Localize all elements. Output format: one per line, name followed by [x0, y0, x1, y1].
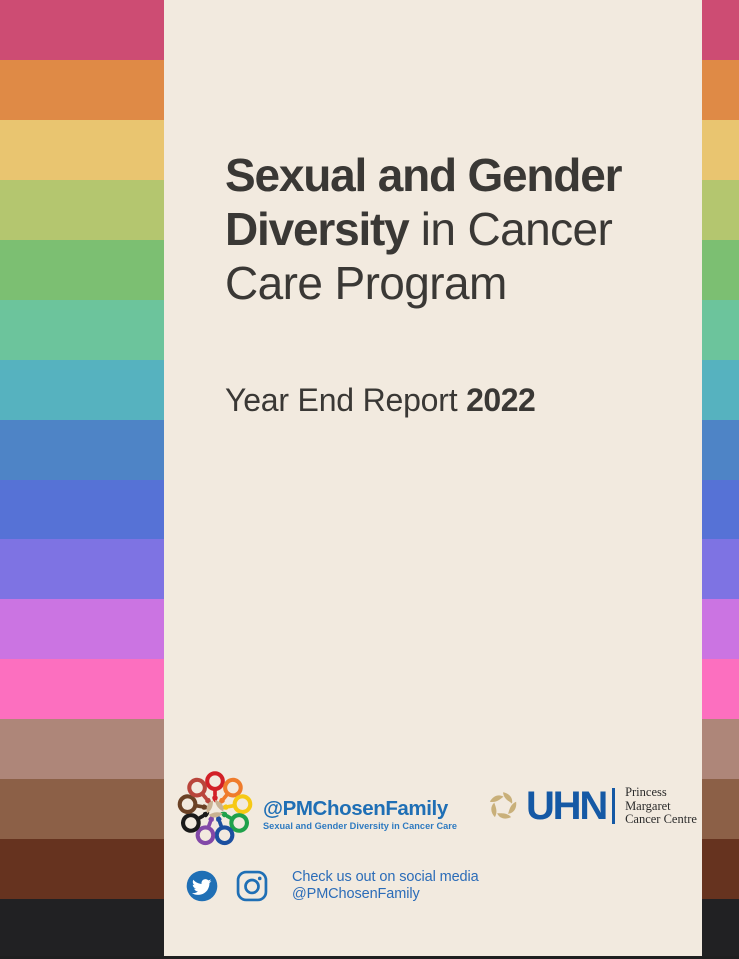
- social-media-row: Check us out on social media @PMChosenFa…: [184, 868, 479, 904]
- instagram-icon[interactable]: [234, 868, 270, 904]
- color-stripe-green: [0, 240, 164, 300]
- report-subtitle: Year End Report 2022: [225, 380, 535, 420]
- title-line-3: Care Program: [225, 257, 507, 309]
- footer-logo-row: @PMChosenFamily Sexual and Gender Divers…: [174, 768, 704, 854]
- subtitle-light-text: Year End Report: [225, 382, 466, 418]
- color-stripe-medium-brown: [702, 779, 739, 839]
- twitter-icon[interactable]: [184, 868, 220, 904]
- social-media-line-1: Check us out on social media: [292, 869, 479, 886]
- uhn-subtitle-line-1: Princess: [625, 786, 697, 800]
- uhn-subtitle-line-2: Margaret: [625, 800, 697, 814]
- color-stripe-golden-yellow: [702, 120, 739, 180]
- uhn-logo: UHN Princess Margaret Cancer Centre: [485, 786, 697, 827]
- uhn-subtitle-line-3: Cancer Centre: [625, 813, 697, 827]
- color-stripe-violet: [702, 539, 739, 599]
- color-stripe-teal-green: [0, 300, 164, 360]
- subtitle-year: 2022: [466, 382, 535, 418]
- social-media-text: Check us out on social media @PMChosenFa…: [292, 869, 479, 903]
- uhn-wordmark: UHN: [526, 787, 606, 825]
- left-color-stripe-column: [0, 0, 164, 959]
- uhn-swirl-logo: [485, 788, 521, 824]
- color-stripe-dark-brown: [0, 839, 164, 899]
- color-stripe-indigo-blue: [0, 480, 164, 540]
- uhn-divider: [612, 788, 615, 824]
- color-stripe-yellow-green: [702, 180, 739, 240]
- color-stripe-near-black: [0, 899, 164, 959]
- color-stripe-dark-brown: [702, 839, 739, 899]
- title-line-1: Sexual and Gender: [225, 149, 621, 201]
- color-stripe-blue: [0, 420, 164, 480]
- color-stripe-blue: [702, 420, 739, 480]
- color-stripe-indigo-blue: [702, 480, 739, 540]
- title-line-2-light: in Cancer: [409, 203, 613, 255]
- color-stripe-teal-green: [702, 300, 739, 360]
- color-stripe-orchid-purple: [702, 599, 739, 659]
- title-line-2-bold: Diversity: [225, 203, 409, 255]
- pmchosenfamily-tagline: Sexual and Gender Diversity in Cancer Ca…: [263, 820, 457, 832]
- pmchosenfamily-handle: @PMChosenFamily: [263, 798, 457, 820]
- social-media-line-2: @PMChosenFamily: [292, 886, 479, 903]
- right-color-stripe-column: [702, 0, 739, 959]
- color-stripe-green: [702, 240, 739, 300]
- page-title: Sexual and Gender Diversity in Cancer Ca…: [225, 148, 705, 310]
- color-stripe-hot-pink: [702, 659, 739, 719]
- report-cover-page: Sexual and Gender Diversity in Cancer Ca…: [0, 0, 739, 959]
- color-stripe-teal-blue: [0, 360, 164, 420]
- color-stripe-dusty-rose-brown: [0, 719, 164, 779]
- color-stripe-medium-brown: [0, 779, 164, 839]
- color-stripe-dusty-rose-brown: [702, 719, 739, 779]
- cover-content: Sexual and Gender Diversity in Cancer Ca…: [164, 0, 702, 956]
- color-stripe-golden-yellow: [0, 120, 164, 180]
- color-stripe-yellow-green: [0, 180, 164, 240]
- color-stripe-orange: [0, 60, 164, 120]
- uhn-subtitle: Princess Margaret Cancer Centre: [625, 786, 697, 827]
- color-stripe-near-black: [702, 899, 739, 959]
- pmchosenfamily-logo-text: @PMChosenFamily Sexual and Gender Divers…: [263, 786, 457, 832]
- color-stripe-teal-blue: [702, 360, 739, 420]
- color-stripe-orange: [702, 60, 739, 120]
- pmchosenfamily-logo: @PMChosenFamily Sexual and Gender Divers…: [174, 768, 457, 850]
- color-stripe-orchid-purple: [0, 599, 164, 659]
- pmchosenfamily-rainbow-circle-logo: [174, 768, 256, 850]
- color-stripe-violet: [0, 539, 164, 599]
- color-stripe-crimson-pink: [702, 0, 739, 60]
- color-stripe-crimson-pink: [0, 0, 164, 60]
- title-text: Sexual and Gender Diversity in Cancer Ca…: [225, 148, 705, 310]
- color-stripe-hot-pink: [0, 659, 164, 719]
